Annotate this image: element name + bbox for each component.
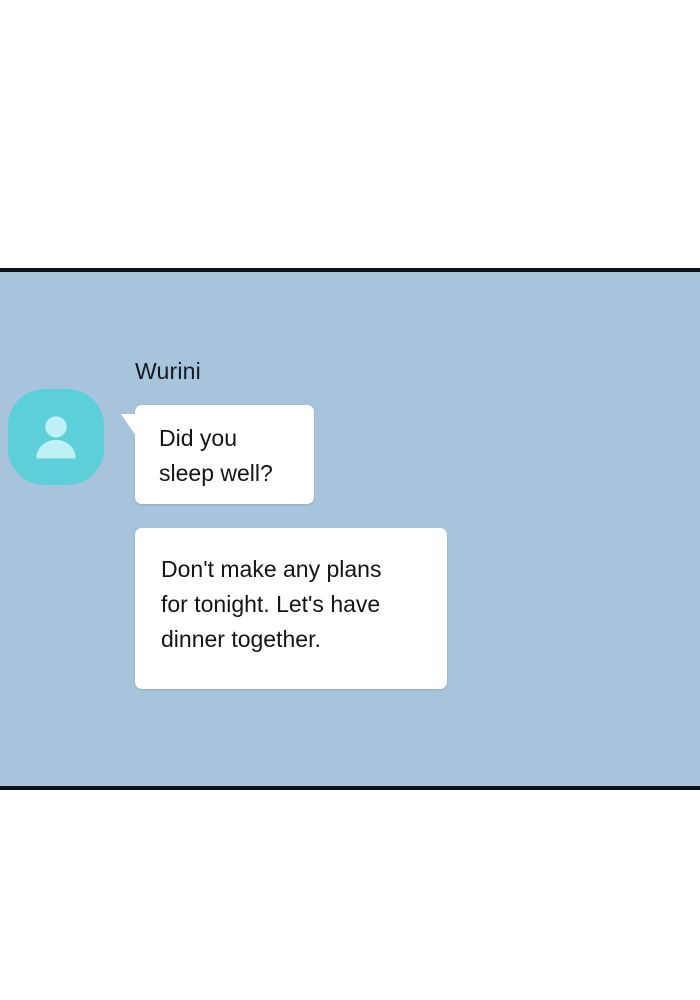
person-icon bbox=[29, 410, 83, 464]
chat-panel: Wurini Did you sleep well? Don't make an… bbox=[0, 268, 700, 790]
message-bubble[interactable]: Did you sleep well? bbox=[135, 405, 314, 504]
bubble-tail-icon bbox=[121, 414, 136, 436]
avatar[interactable] bbox=[8, 389, 104, 485]
message-text: Don't make any plans for tonight. Let's … bbox=[161, 552, 447, 657]
sender-name: Wurini bbox=[135, 356, 201, 386]
message-text: Did you sleep well? bbox=[159, 421, 314, 491]
comic-page: Wurini Did you sleep well? Don't make an… bbox=[0, 0, 700, 1000]
message-bubble[interactable]: Don't make any plans for tonight. Let's … bbox=[135, 528, 447, 689]
